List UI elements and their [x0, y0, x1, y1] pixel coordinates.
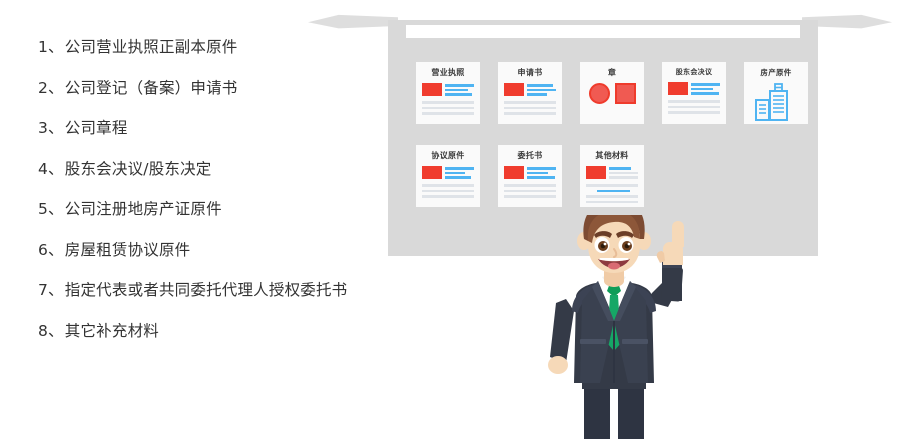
list-item-number: 6、: [38, 243, 64, 259]
board-white-strip: [406, 25, 800, 38]
seal-shapes-group: [586, 83, 638, 104]
doc-card-title: 其他材料: [586, 152, 638, 160]
list-item-number: 2、: [38, 81, 64, 97]
list-item-label: 公司注册地房产证原件: [65, 202, 222, 218]
gray-text-lines: [668, 100, 720, 114]
gray-text-lines: [422, 184, 474, 198]
doc-card-title: 房产原件: [750, 69, 802, 77]
list-item-label: 公司登记（备案）申请书: [65, 81, 238, 97]
blue-text-lines: [445, 166, 474, 179]
gray-text-lines: [422, 101, 474, 115]
list-item-number: 3、: [38, 121, 64, 137]
doc-card-agreement-original[interactable]: 协议原件: [416, 145, 480, 207]
gray-text-lines: [504, 184, 556, 198]
doc-card-body: [422, 166, 474, 179]
list-item-number: 8、: [38, 324, 64, 340]
red-block-icon: [586, 166, 606, 179]
doc-card-body: [504, 166, 556, 179]
list-item-label: 公司营业执照正副本原件: [65, 40, 238, 56]
doc-card-body: [422, 83, 474, 96]
building-icon: [750, 83, 802, 121]
doc-card-title: 营业执照: [422, 69, 474, 77]
list-item-number: 4、: [38, 162, 64, 178]
list-item-number: 7、: [38, 283, 64, 299]
doc-card-other-materials[interactable]: 其他材料: [580, 145, 644, 207]
list-item-number: 1、: [38, 40, 64, 56]
doc-card-property-certificate[interactable]: 房产原件: [744, 62, 808, 124]
list-item-number: 5、: [38, 202, 64, 218]
list-item-label: 公司章程: [65, 121, 128, 137]
blue-text-lines: [691, 82, 720, 95]
banner-tip-left-icon: [308, 14, 398, 29]
doc-card-title: 协议原件: [422, 152, 474, 160]
doc-card-power-of-attorney[interactable]: 委托书: [498, 145, 562, 207]
doc-card-business-license[interactable]: 营业执照: [416, 62, 480, 124]
red-block-icon: [422, 166, 442, 179]
doc-card-title: 股东会决议: [668, 69, 720, 76]
doc-card-title: 委托书: [504, 152, 556, 160]
gray-text-lines: [586, 184, 638, 203]
gray-text-lines: [504, 101, 556, 115]
doc-card-application-form[interactable]: 申请书: [498, 62, 562, 124]
square-seal-icon: [615, 83, 636, 104]
list-item-label: 其它补充材料: [65, 324, 159, 340]
doc-card-body: [668, 82, 720, 95]
doc-card-title: 申请书: [504, 69, 556, 77]
blue-text-lines: [445, 83, 474, 96]
blue-text-lines: [527, 83, 556, 96]
slide-canvas: 1、 公司营业执照正副本原件 2、 公司登记（备案）申请书 3、 公司章程 4、…: [0, 0, 900, 439]
doc-card-title: 章: [586, 69, 638, 77]
doc-card-body: [586, 166, 638, 179]
red-block-icon: [504, 83, 524, 96]
documents-illustration: 营业执照 申请书: [300, 0, 900, 439]
businessman-pointing-up: [522, 215, 732, 439]
red-block-icon: [504, 166, 524, 179]
red-block-icon: [422, 83, 442, 96]
doc-card-body: [504, 83, 556, 96]
red-block-icon: [668, 82, 688, 95]
doc-card-company-seal[interactable]: 章: [580, 62, 644, 124]
doc-card-shareholder-resolution[interactable]: 股东会决议: [662, 62, 726, 124]
blue-text-lines: [609, 166, 638, 179]
list-item-label: 房屋租赁协议原件: [65, 243, 191, 259]
blue-text-lines: [527, 166, 556, 179]
round-seal-icon: [589, 83, 610, 104]
list-item-label: 股东会决议/股东决定: [65, 162, 212, 178]
